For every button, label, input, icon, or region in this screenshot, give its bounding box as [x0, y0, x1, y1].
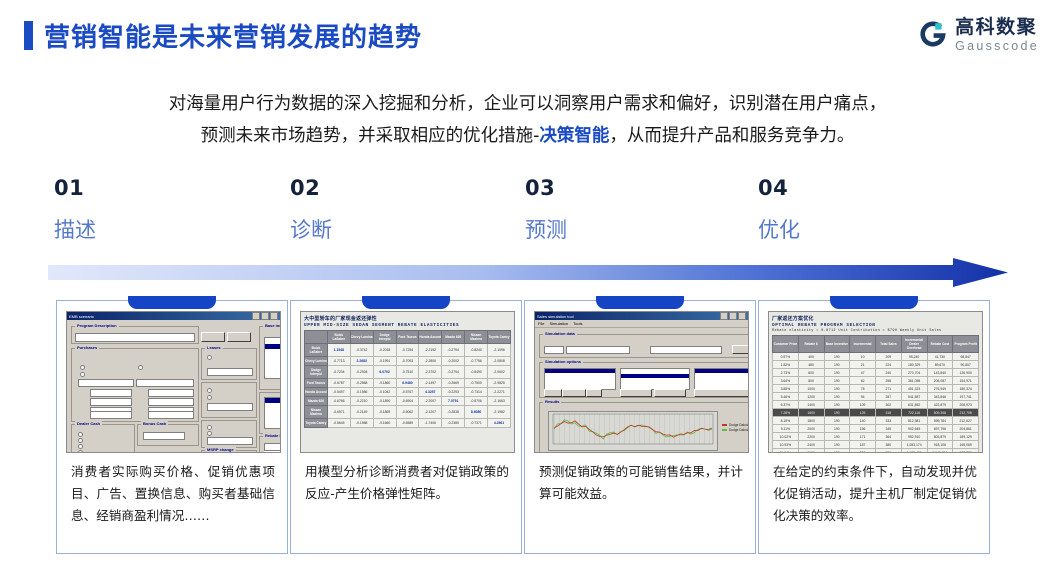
card-diagnose[interactable]: 大中型轿车的厂家现金返还弹性 UPPER MID-SIZE SEDAN SEGM… [290, 300, 522, 554]
group-dealer-cash: Dealer Cash [71, 424, 135, 453]
rebate-cell: 480 [798, 361, 824, 369]
screenshot-incentive-dialog: EMB scenario Program Description Purchas… [66, 311, 281, 453]
legend-item-actual: Dodge Dakota actual [722, 428, 749, 433]
matrix-col-header: Nissan Maxima [465, 331, 488, 344]
card-caption: 消费者实际购买价格、促销优惠项目、广告、置换信息、购买者基础信息、经销商盈利情况… [71, 461, 275, 527]
rebate-cell: 271 [876, 385, 902, 393]
purchase-select-right[interactable] [136, 379, 194, 387]
rebate-cell: 190 [824, 377, 850, 385]
rebate-cell: 90,807 [953, 361, 979, 369]
matrix-cell: -0.5645 [327, 419, 350, 428]
table-row: 7.28%1600190125318722,116509,308212,708 [773, 409, 979, 417]
rebate-cell: 47 [850, 369, 876, 377]
rebate-cell: 1600 [798, 409, 824, 417]
card-tab [596, 296, 684, 309]
models-listbox[interactable] [620, 368, 690, 390]
rebate-cell: 95,240 [901, 353, 927, 361]
rebate-cell: 803,879 [927, 433, 953, 441]
window-title: EMB scenario [69, 314, 94, 319]
matrix-cell: -0.6062 [396, 406, 419, 419]
step-number: 02 [290, 176, 490, 200]
rebate-cell: 600 [798, 369, 824, 377]
rebate-cell: 190 [824, 449, 850, 454]
rebate-cell: 422,879 [927, 401, 953, 409]
card-caption: 在给定的约束条件下，自动发现并优化促销活动，提升主机厂制定促销优化决策的效率。 [773, 461, 977, 527]
table-title-en: OPTIMAL REBATE PROGRAM SELECTION [772, 323, 979, 328]
matrix-cell: -2.0602 [488, 366, 511, 379]
step-number: 04 [758, 176, 958, 200]
rebate-cell: 10 [850, 353, 876, 361]
rebate-cell: 1800 [798, 417, 824, 425]
table-row: Buick LaSabre1.1548-0.3742-0.2018-0.7254… [305, 344, 511, 357]
screenshot-rebate-table: 厂家返还方案优化 OPTIMAL REBATE PROGRAM SELECTIO… [768, 311, 983, 453]
rebate-cell: 7.28% [773, 409, 799, 417]
logo-text-en: Gausscode [955, 40, 1039, 53]
menu-file[interactable]: File [538, 321, 544, 326]
rebate-cell: 918,106 [927, 441, 953, 449]
rebate-cell: 800 [798, 377, 824, 385]
step-03: 03 预测 [525, 176, 725, 244]
menu-bar[interactable]: File Simulation Tools [535, 320, 748, 328]
segment-select[interactable] [566, 346, 630, 354]
rebate-cell: 1.82% [773, 361, 799, 369]
regions-listbox[interactable] [264, 397, 281, 429]
matrix-title-cn: 大中型轿车的厂家现金返还弹性 [304, 315, 511, 322]
matrix-row-header: Ford Taurus [305, 379, 328, 388]
step-02: 02 诊断 [290, 176, 490, 244]
table-row: Mazda 626-0.6766-0.2210-0.1890-0.6904-2.… [305, 397, 511, 406]
matrix-cell: 1.1548 [327, 344, 350, 357]
card-tab [830, 296, 918, 309]
matrix-cell: -0.2794 [442, 344, 465, 357]
matrix-cell: -0.2838 [442, 406, 465, 419]
rebate-cell: 190 [824, 441, 850, 449]
region-select[interactable] [650, 346, 722, 354]
matrix-cell: -0.1988 [350, 419, 373, 428]
save-case-button[interactable] [732, 345, 749, 354]
table-row: 6.37%1400190109302631,852422,879208,973 [773, 401, 979, 409]
close-button[interactable] [227, 332, 251, 342]
group-simulation-data: Simulation data [539, 334, 749, 358]
rebate-cell: 21 [850, 361, 876, 369]
term-36-left[interactable] [90, 398, 132, 406]
group-program-description: Program Description [71, 326, 199, 344]
matrix-cell: -0.1991 [373, 357, 396, 366]
rebate-cell: 11.84% [773, 449, 799, 454]
rebate-cell: 154,971 [953, 377, 979, 385]
matrix-cell: 7.0791 [442, 397, 465, 406]
rebate-cell: 812,381 [901, 417, 927, 425]
matrix-cell: 4.3257 [419, 388, 442, 397]
matrix-title-en: UPPER MID-SIZE SEDAN SEGMENT REBATE ELAS… [304, 323, 511, 328]
rebate-cell: 156 [850, 425, 876, 433]
rebate-cell: 5.46% [773, 393, 799, 401]
matrix-cell: -0.6589 [396, 419, 419, 428]
models-listbox[interactable] [264, 337, 281, 379]
add-button[interactable] [544, 389, 562, 397]
rebate-cell: 89,670 [927, 361, 953, 369]
screenshot-elasticity-matrix: 大中型轿车的厂家现金返还弹性 UPPER MID-SIZE SEDAN SEGM… [300, 311, 515, 453]
group-msrp-change: MSRP change [201, 450, 257, 453]
matrix-cell: -0.2928 [350, 366, 373, 379]
menu-tools[interactable]: Tools [573, 321, 582, 326]
table-row: 3.85%100019078271451,323276,949180,374 [773, 385, 979, 393]
matrix-cell: -0.7371 [465, 419, 488, 428]
rebate-cell: 0.97% [773, 353, 799, 361]
rebate-cell: 212,708 [953, 409, 979, 417]
rebate-cell: 10.93% [773, 441, 799, 449]
matrix-col-header: Toyota Camry [488, 331, 511, 344]
rebate-cell: 1,173,439 [901, 449, 927, 454]
rebate-cell: 180,374 [953, 385, 979, 393]
rebate-cell: 190 [824, 417, 850, 425]
intro-line-2: 预测未来市场趋势，并采取相应的优化措施-决策智能，从而提升产品和服务竞争力。 [50, 120, 1005, 152]
rebate-cell: 1000 [798, 385, 824, 393]
rebate-cell: 2000 [798, 425, 824, 433]
rebate-cell: 203 [850, 449, 876, 454]
scenarios-listbox[interactable] [544, 368, 616, 390]
rebate-cell: 3.85% [773, 385, 799, 393]
matrix-cell: -0.6571 [327, 406, 350, 419]
save-button[interactable] [201, 332, 225, 342]
card-tab [128, 296, 216, 309]
table-row: 11.84%26001902033961,173,4391,040,710132… [773, 449, 979, 454]
rebate-cell: 190 [824, 425, 850, 433]
rebate-model-select[interactable] [264, 443, 281, 451]
rebate-col-header: Incremental [850, 336, 876, 353]
rebate-cell: 361,058 [901, 377, 927, 385]
rebate-cell: 206,087 [927, 377, 953, 385]
rebate-cell: 2.73% [773, 369, 799, 377]
step-label: 预测 [525, 214, 725, 244]
matrix-cell: -0.1986 [350, 388, 373, 397]
rebate-cell: 10.02% [773, 433, 799, 441]
step-04: 04 优化 [758, 176, 958, 244]
table-row: 8.19%1800190140333812,381599,784212,627 [773, 417, 979, 425]
matrix-cell: -2.2806 [419, 357, 442, 366]
group-residual-subvention [201, 420, 257, 448]
matrix-cell: -2.1207 [419, 406, 442, 419]
rebate-cell: 451,323 [901, 385, 927, 393]
rebate-cell: 212,627 [953, 417, 979, 425]
card-caption: 预测促销政策的可能销售结果，并计算可能效益。 [539, 461, 743, 505]
rebate-cell: 333 [876, 417, 902, 425]
matrix-row-header: Buick LaSabre [305, 344, 328, 357]
table-row: 0.97%4001901020995,24041,73068,847 [773, 353, 979, 361]
menu-simulation[interactable]: Simulation [549, 321, 568, 326]
rebate-col-header: Rebate Cost [927, 336, 953, 353]
matrix-cell: -0.1890 [373, 397, 396, 406]
matrix-row-header: Chevy Lumina [305, 357, 328, 366]
term-24-left[interactable] [90, 389, 132, 397]
rate-subvention-input[interactable] [207, 403, 253, 411]
rebate-cell: 599,784 [927, 417, 953, 425]
edit-button[interactable] [586, 389, 602, 397]
rebate-cell: 190 [824, 433, 850, 441]
table-row: Chevy Lumina-0.77132.2683-0.1991-0.7093-… [305, 357, 511, 366]
rebate-cell: 68,847 [953, 353, 979, 361]
matrix-cell: -2.1497 [419, 379, 442, 388]
rebate-cell: 224 [876, 361, 902, 369]
lease-cash-input[interactable] [207, 368, 253, 376]
rebate-cell: 902,645 [901, 425, 927, 433]
matrix-cell: -0.2380 [442, 419, 465, 428]
matrix-cell: -0.2794 [442, 366, 465, 379]
chart-legend: Dodge Dakota est. Dodge Dakota actual [722, 423, 749, 433]
table-row: 5.46%120019094287541,587343,846197,741 [773, 393, 979, 401]
rebate-col-header: Customer Price [773, 336, 799, 353]
matrix-cell: -2.1982 [488, 406, 511, 419]
rebate-col-header: Program Profit [953, 336, 979, 353]
rebate-cell: 180,329 [901, 361, 927, 369]
matrix-cell: -2.2192 [419, 344, 442, 357]
residual-subvention-input[interactable] [207, 437, 253, 445]
card-optimize[interactable]: 厂家返还方案优化 OPTIMAL REBATE PROGRAM SELECTIO… [758, 300, 990, 554]
matrix-cell: -2.1096 [488, 344, 511, 357]
rebate-cell: 190 [824, 369, 850, 377]
matrix-cell: -0.8490 [465, 366, 488, 379]
window-controls [252, 312, 278, 320]
table-row: 10.02%2200190171364992,910803,879189,129 [773, 433, 979, 441]
rebate-cell: 1200 [798, 393, 824, 401]
window-controls [720, 312, 746, 320]
table-subtitle: Rebate elasticity = 0.8712 Unit Contribu… [772, 329, 979, 333]
matrix-cell: 2.2683 [350, 357, 373, 366]
elasticity-table: Buick LaSabreChevy LuminaDodge IntrepidF… [304, 330, 511, 428]
card-describe[interactable]: EMB scenario Program Description Purchas… [56, 300, 288, 554]
rebate-cell: 209 [876, 353, 902, 361]
rebate-cell: 364 [876, 433, 902, 441]
matrix-col-header: Dodge Intrepid [373, 331, 396, 344]
model-type-select[interactable] [544, 346, 564, 354]
rebate-cell: 8.19% [773, 417, 799, 425]
program-description-input[interactable] [75, 333, 195, 342]
table-row: 3.64%80019062258361,058206,087154,971 [773, 377, 979, 385]
rebate-cell: 396 [876, 449, 902, 454]
matrix-cell: -0.3742 [350, 344, 373, 357]
rebate-cell: 165,069 [953, 441, 979, 449]
group-rate-subvention [201, 382, 257, 418]
matrix-cell: -0.8706 [465, 397, 488, 406]
rebate-cell: 509,308 [927, 409, 953, 417]
slide: 营销智能是未来营销发展的趋势 高科数聚 Gausscode 对海量用户行为数据的… [0, 0, 1051, 586]
group-leases: Leases [201, 348, 257, 380]
graph-button[interactable] [694, 389, 749, 397]
matrix-row-header: Honda Accord [305, 388, 328, 397]
table-row: Honda Accord-0.5497-0.1986-0.1042-0.5767… [305, 388, 511, 397]
brand-logo: 高科数聚 Gausscode [918, 18, 1039, 53]
rebate-cell: 125 [850, 409, 876, 417]
matrix-cell: 6.0702 [373, 366, 396, 379]
matrix-cell: -0.6904 [396, 397, 419, 406]
rebate-cell: 1,083,174 [901, 441, 927, 449]
rebate-cell: 380 [876, 441, 902, 449]
logo-text: 高科数聚 Gausscode [955, 18, 1039, 53]
term-60-left[interactable] [90, 411, 132, 419]
rebate-cell: 722,116 [901, 409, 927, 417]
term-24-right[interactable] [148, 389, 194, 397]
clear-button[interactable] [264, 451, 281, 453]
rebate-cell: 1,040,710 [927, 449, 953, 454]
term-60-right[interactable] [148, 411, 194, 419]
rebate-cell: 270,704 [901, 369, 927, 377]
rebate-cell: 62 [850, 377, 876, 385]
matrix-cell: -0.2669 [442, 379, 465, 388]
rebate-cell: 143,840 [927, 369, 953, 377]
rebate-cell: 631,852 [901, 401, 927, 409]
intro-line-2-pre: 预测未来市场趋势，并采取相应的优化措施- [201, 126, 540, 146]
card-predict[interactable]: Sales simulation tool File Simulation To… [524, 300, 756, 554]
sales-line-chart [548, 411, 718, 451]
matrix-cell: 6.9480 [396, 379, 419, 388]
intro-paragraph: 对海量用户行为数据的深入挖掘和分析，企业可以洞察用户需求和偏好，识别潜在用户痛点… [50, 88, 1005, 152]
rebate-cell: 258 [876, 377, 902, 385]
table-row: Nissan Maxima-0.6571-0.2149-0.1869-0.606… [305, 406, 511, 419]
rebate-cell: 287 [876, 393, 902, 401]
rebate-table: Customer PriceRebate $Base IncentiveIncr… [772, 335, 979, 453]
window-title: Sales simulation tool [537, 314, 574, 319]
step-01: 01 描述 [54, 176, 254, 244]
table-row: Dodge Intrepid-0.7204-0.29286.0702-0.751… [305, 366, 511, 379]
series-listbox[interactable] [694, 368, 749, 390]
rebate-col-header: Base Incentive [824, 336, 850, 353]
matrix-cell: 4.2561 [488, 419, 511, 428]
rebate-cell: 541,587 [901, 393, 927, 401]
matrix-col-header: Chevy Lumina [350, 331, 373, 344]
group-purchases: Purchases [71, 348, 199, 422]
page-title: 营销智能是未来营销发展的趋势 [44, 17, 422, 54]
intro-line-2-post: ，从而提升产品和服务竞争力。 [609, 126, 854, 146]
matrix-cell: -0.7314 [465, 388, 488, 397]
matrix-cell: -0.7756 [465, 357, 488, 366]
matrix-cell: -0.1860 [373, 379, 396, 388]
matrix-row-header: Nissan Maxima [305, 406, 328, 419]
cards-row: EMB scenario Program Description Purchas… [0, 296, 1051, 558]
group-bonus-cash: Bonus Cash [137, 424, 199, 446]
step-label: 优化 [758, 214, 958, 244]
matrix-col-header: Honda Accord [419, 331, 442, 344]
title-accent-bar [24, 21, 33, 50]
matrix-cell: -2.9825 [488, 379, 511, 388]
table-row: 9.11%2000190156349902,645697,796204,861 [773, 425, 979, 433]
bonus-cash-input[interactable] [143, 432, 185, 440]
term-36-right[interactable] [148, 398, 194, 406]
rebate-cell: 140 [850, 417, 876, 425]
matrix-cell: -0.7204 [327, 366, 350, 379]
rebate-cell: 276,949 [927, 385, 953, 393]
matrix-row-header: Dodge Intrepid [305, 366, 328, 379]
matrix-cell: -2.2271 [488, 388, 511, 397]
rebate-cell: 240 [876, 369, 902, 377]
matrix-cell: -2.3702 [419, 366, 442, 379]
rebate-cell: 190 [824, 385, 850, 393]
purchase-select-left[interactable] [78, 379, 134, 387]
rebate-cell: 1400 [798, 401, 824, 409]
rebate-cell: 94 [850, 393, 876, 401]
intro-line-1: 对海量用户行为数据的深入挖掘和分析，企业可以洞察用户需求和偏好，识别潜在用户痛点… [50, 88, 1005, 120]
rebate-cell: 697,796 [927, 425, 953, 433]
matrix-cell: -0.7093 [396, 357, 419, 366]
step-number: 01 [54, 176, 254, 200]
steps-row: 01 描述 02 诊断 03 预测 04 优化 [0, 176, 1051, 246]
rebate-cell: 992,910 [901, 433, 927, 441]
matrix-cell: -0.2293 [442, 388, 465, 397]
matrix-cell: -0.6766 [327, 397, 350, 406]
rebate-cell: 9.11% [773, 425, 799, 433]
rebate-cell: 78 [850, 385, 876, 393]
matrix-col-header: Mazda 626 [442, 331, 465, 344]
group-base-incentives: Base incentives [259, 326, 281, 390]
card-caption: 用模型分析诊断消费者对促销政策的反应-产生价格弹性矩阵。 [305, 461, 509, 505]
matrix-cell: -0.5497 [327, 388, 350, 397]
table-row: 1.82%48019021224180,32989,67090,807 [773, 361, 979, 369]
rebate-cell: 349 [876, 425, 902, 433]
table-title-cn: 厂家返还方案优化 [772, 315, 979, 322]
matrix-cell: -0.7500 [465, 379, 488, 388]
rebate-cell: 197,741 [953, 393, 979, 401]
table-row: Ford Taurus-0.6787-0.2588-0.18606.9480-2… [305, 379, 511, 388]
screenshot-simulation-chart: Sales simulation tool File Simulation To… [534, 311, 749, 453]
matrix-cell: -0.1660 [373, 419, 396, 428]
matrix-col-header: Ford Taurus [396, 331, 419, 344]
rebate-col-header: Rebate $ [798, 336, 824, 353]
matrix-cell: -2.1663 [488, 397, 511, 406]
matrix-cell: -0.6787 [327, 379, 350, 388]
matrix-cell: -0.1042 [373, 388, 396, 397]
dealer-cash-select[interactable] [77, 452, 119, 453]
group-results: Results [539, 402, 749, 453]
matrix-cell: -0.7510 [396, 366, 419, 379]
matrix-cell: -0.2002 [442, 357, 465, 366]
matrix-cell: -0.2210 [350, 397, 373, 406]
rebate-cell: 190 [824, 393, 850, 401]
matrix-cell: -1.7406 [419, 419, 442, 428]
gausscode-logo-icon [918, 20, 948, 50]
rebate-cell: 109 [850, 401, 876, 409]
matrix-cell: -0.7254 [396, 344, 419, 357]
rebate-cell: 3.64% [773, 377, 799, 385]
card-tab [362, 296, 450, 309]
rebate-cell: 400 [798, 353, 824, 361]
matrix-cell: -0.1869 [373, 406, 396, 419]
remove-button[interactable] [562, 389, 586, 397]
matrix-cell: -0.2588 [350, 379, 373, 388]
rebate-cell: 190 [824, 361, 850, 369]
step-label: 诊断 [290, 214, 490, 244]
rebate-cell: 41,730 [927, 353, 953, 361]
logo-text-cn: 高科数聚 [955, 18, 1039, 37]
rebate-cell: 318 [876, 409, 902, 417]
table-row: 2.73%60019047240270,704143,840126,900 [773, 369, 979, 377]
rebate-cell: 189,129 [953, 433, 979, 441]
rebate-cell: 2600 [798, 449, 824, 454]
rebate-cell: 187 [850, 441, 876, 449]
select-all-button[interactable] [620, 389, 652, 397]
rebate-col-header: Incremental Dealer Overhead [901, 336, 927, 353]
rebate-col-header: Total Sales [876, 336, 902, 353]
matrix-cell: -0.2018 [373, 344, 396, 357]
group-regions [259, 392, 281, 434]
matrix-cell: -0.5767 [396, 388, 419, 397]
clear-all-button[interactable] [654, 389, 686, 397]
slide-header: 营销智能是未来营销发展的趋势 高科数聚 Gausscode [0, 0, 1051, 72]
matrix-cell: -2.2007 [419, 397, 442, 406]
matrix-cell: 8.6080 [465, 406, 488, 419]
matrix-col-header: Buick LaSabre [327, 331, 350, 344]
matrix-row-header: Mazda 626 [305, 397, 328, 406]
table-row: 10.93%24001901873801,083,174918,106165,0… [773, 441, 979, 449]
group-rebate-incentives: Rebate incentives [259, 436, 281, 453]
